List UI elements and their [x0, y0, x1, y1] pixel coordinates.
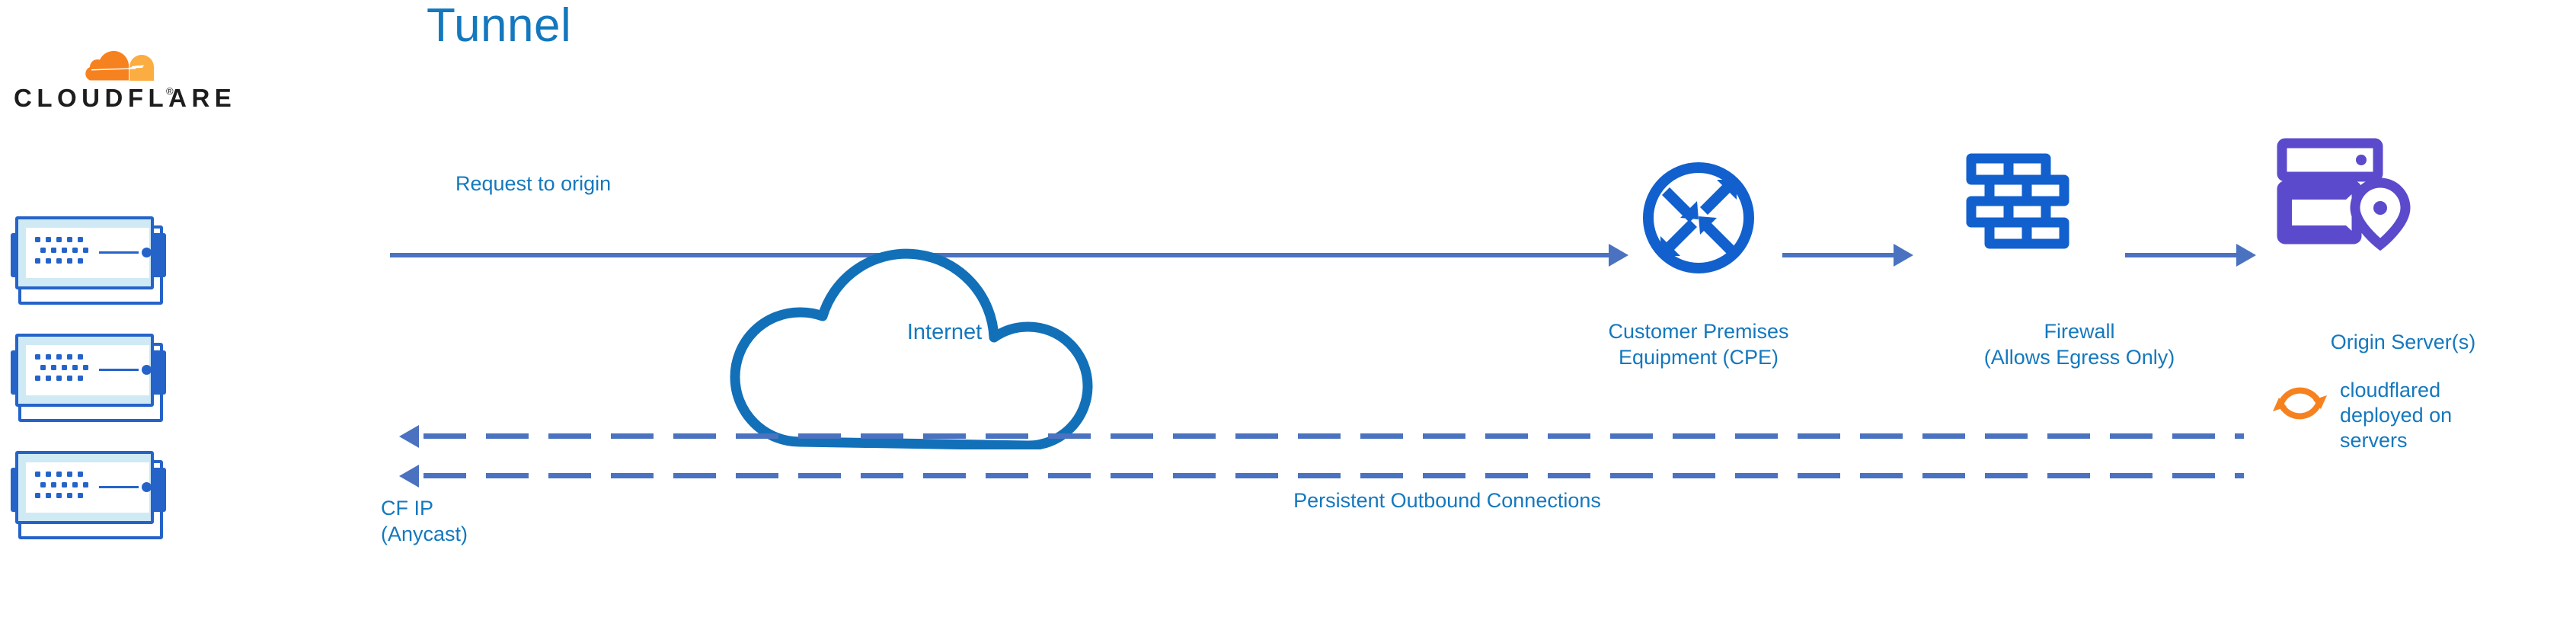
sync-arrows-icon [2271, 375, 2328, 432]
server-right-tab [152, 233, 166, 277]
diagram-title: Tunnel [427, 0, 571, 53]
router-four-arrows-icon [1638, 157, 1759, 279]
cloudflare-logo: CLOUDFLARE ® [14, 44, 181, 113]
internet-label: Internet [708, 320, 1181, 345]
server-location-pin-icon [2276, 137, 2417, 251]
cf-edge-server-3 [8, 449, 168, 539]
cf-edge-server-2 [8, 332, 168, 422]
server-right-tab [152, 350, 166, 395]
server-chassis [15, 334, 154, 407]
outbound-dashed-line-top [423, 433, 2244, 439]
cpe-label: Customer Premises Equipment (CPE) [1508, 318, 1889, 370]
cloudflare-cloud-logo-icon [73, 44, 157, 86]
server-led-icon [142, 482, 152, 492]
origin-server-node [2276, 137, 2417, 255]
outbound-arrowhead-top [399, 425, 419, 448]
server-status-line [99, 369, 139, 371]
server-face [26, 228, 149, 278]
cloudflared-label: cloudflared deployed on servers [2340, 378, 2553, 453]
server-vent-dots [35, 472, 88, 504]
cpe-to-firewall-line [1782, 253, 1895, 257]
cpe-node [1638, 157, 1759, 283]
outbound-dashed-line-bottom [423, 473, 2244, 478]
request-to-origin-label: Request to origin [455, 171, 806, 197]
firewall-to-origin-line [2125, 253, 2238, 257]
cf-ip-anycast-label: CF IP (Anycast) [381, 495, 594, 547]
server-chassis [15, 451, 154, 524]
server-face [26, 345, 149, 395]
server-vent-dots [35, 237, 88, 269]
server-vent-dots [35, 354, 88, 386]
server-status-line [99, 251, 139, 254]
tunnel-diagram-canvas: Tunnel CLOUDFLARE ® [0, 0, 2576, 617]
cloudflare-wordmark: CLOUDFLARE [14, 84, 236, 113]
brick-wall-icon [1965, 152, 2087, 259]
server-face [26, 462, 149, 513]
registered-mark: ® [166, 85, 174, 97]
outbound-arrowhead-bottom [399, 465, 419, 488]
firewall-to-origin-arrowhead [2236, 244, 2256, 267]
server-led-icon [142, 365, 152, 375]
server-right-tab [152, 468, 166, 512]
origin-server-label: Origin Server(s) [2251, 329, 2555, 355]
cf-edge-server-1 [8, 215, 168, 305]
persistent-outbound-label: Persistent Outbound Connections [1158, 488, 1737, 513]
request-to-origin-arrowhead [1609, 244, 1628, 267]
internet-cloud-node: Internet [708, 213, 1181, 449]
firewall-label: Firewall (Allows Egress Only) [1866, 318, 2293, 370]
server-led-icon [142, 248, 152, 257]
cloudflared-sync-node [2271, 375, 2328, 436]
server-status-line [99, 486, 139, 488]
firewall-node [1965, 152, 2087, 263]
server-chassis [15, 216, 154, 289]
cpe-to-firewall-arrowhead [1894, 244, 1913, 267]
